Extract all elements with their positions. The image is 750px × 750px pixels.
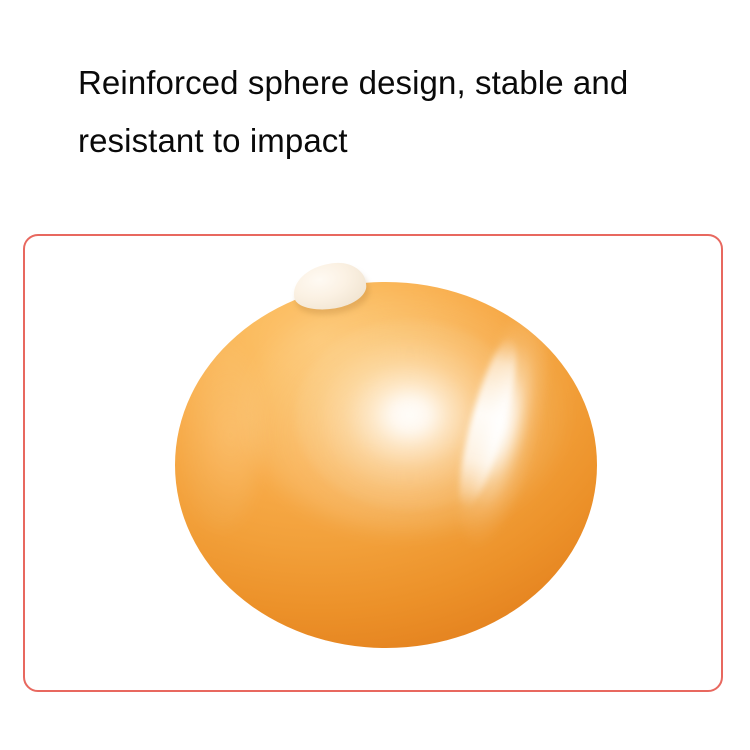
product-image-frame [23, 234, 723, 692]
page-title-line-1: Reinforced sphere design, stable and [78, 54, 698, 112]
page-title: Reinforced sphere design, stable and res… [78, 54, 698, 170]
page-title-line-2: resistant to impact [78, 112, 698, 170]
